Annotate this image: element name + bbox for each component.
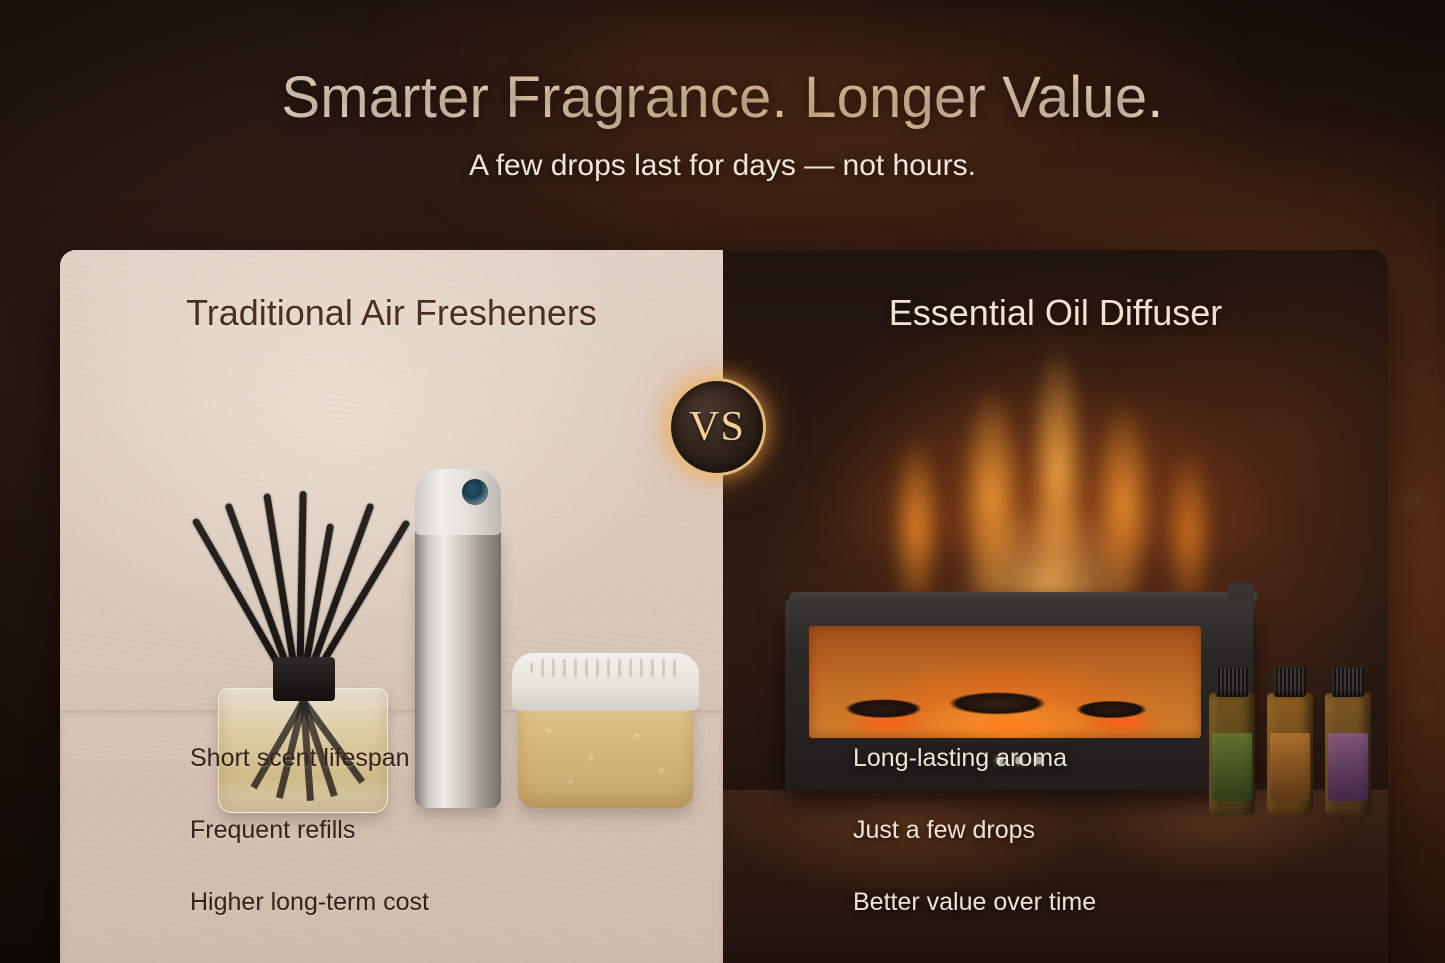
comparison-board: Traditional Air Fresheners bbox=[60, 250, 1388, 963]
vs-badge: VS bbox=[668, 378, 766, 476]
left-panel-title: Traditional Air Fresheners bbox=[60, 292, 723, 334]
aerosol-nozzle-icon bbox=[462, 479, 488, 505]
list-item: Long-lasting aroma bbox=[853, 746, 1096, 771]
reed-diffuser-cap bbox=[273, 657, 335, 701]
left-bullet-list: Short scent lifespan Frequent refills Hi… bbox=[190, 746, 429, 915]
list-item: Frequent refills bbox=[190, 818, 429, 843]
gel-jar-body bbox=[518, 698, 693, 808]
bottle-cap bbox=[1274, 667, 1306, 697]
page-subtitle: A few drops last for days — not hours. bbox=[0, 149, 1445, 183]
diffuser-flame-window bbox=[809, 626, 1201, 738]
right-bullet-list: Long-lasting aroma Just a few drops Bett… bbox=[853, 746, 1096, 915]
oil-bottle-green bbox=[1209, 693, 1255, 815]
panel-diffuser: Essential Oil Diffuser bbox=[723, 250, 1388, 963]
header: Smarter Fragrance. Longer Value. A few d… bbox=[0, 64, 1445, 183]
list-item: Just a few drops bbox=[853, 818, 1096, 843]
oil-bottle-amber bbox=[1267, 693, 1313, 815]
bottle-cap bbox=[1332, 667, 1364, 697]
aerosol-can-cap bbox=[415, 469, 501, 535]
list-item: Better value over time bbox=[853, 890, 1096, 915]
log-set bbox=[815, 684, 1195, 728]
gel-jar-lid bbox=[512, 653, 699, 711]
essential-oil-bottles bbox=[1209, 665, 1379, 815]
panel-traditional: Traditional Air Fresheners bbox=[60, 250, 723, 963]
right-panel-title: Essential Oil Diffuser bbox=[723, 292, 1388, 334]
vs-badge-label: VS bbox=[689, 403, 745, 451]
bottle-cap bbox=[1216, 667, 1248, 697]
list-item: Short scent lifespan bbox=[190, 746, 429, 771]
page-title: Smarter Fragrance. Longer Value. bbox=[0, 64, 1445, 131]
list-item: Higher long-term cost bbox=[190, 890, 429, 915]
promo-graphic: Smarter Fragrance. Longer Value. A few d… bbox=[0, 0, 1445, 963]
oil-bottle-purple bbox=[1325, 693, 1371, 815]
